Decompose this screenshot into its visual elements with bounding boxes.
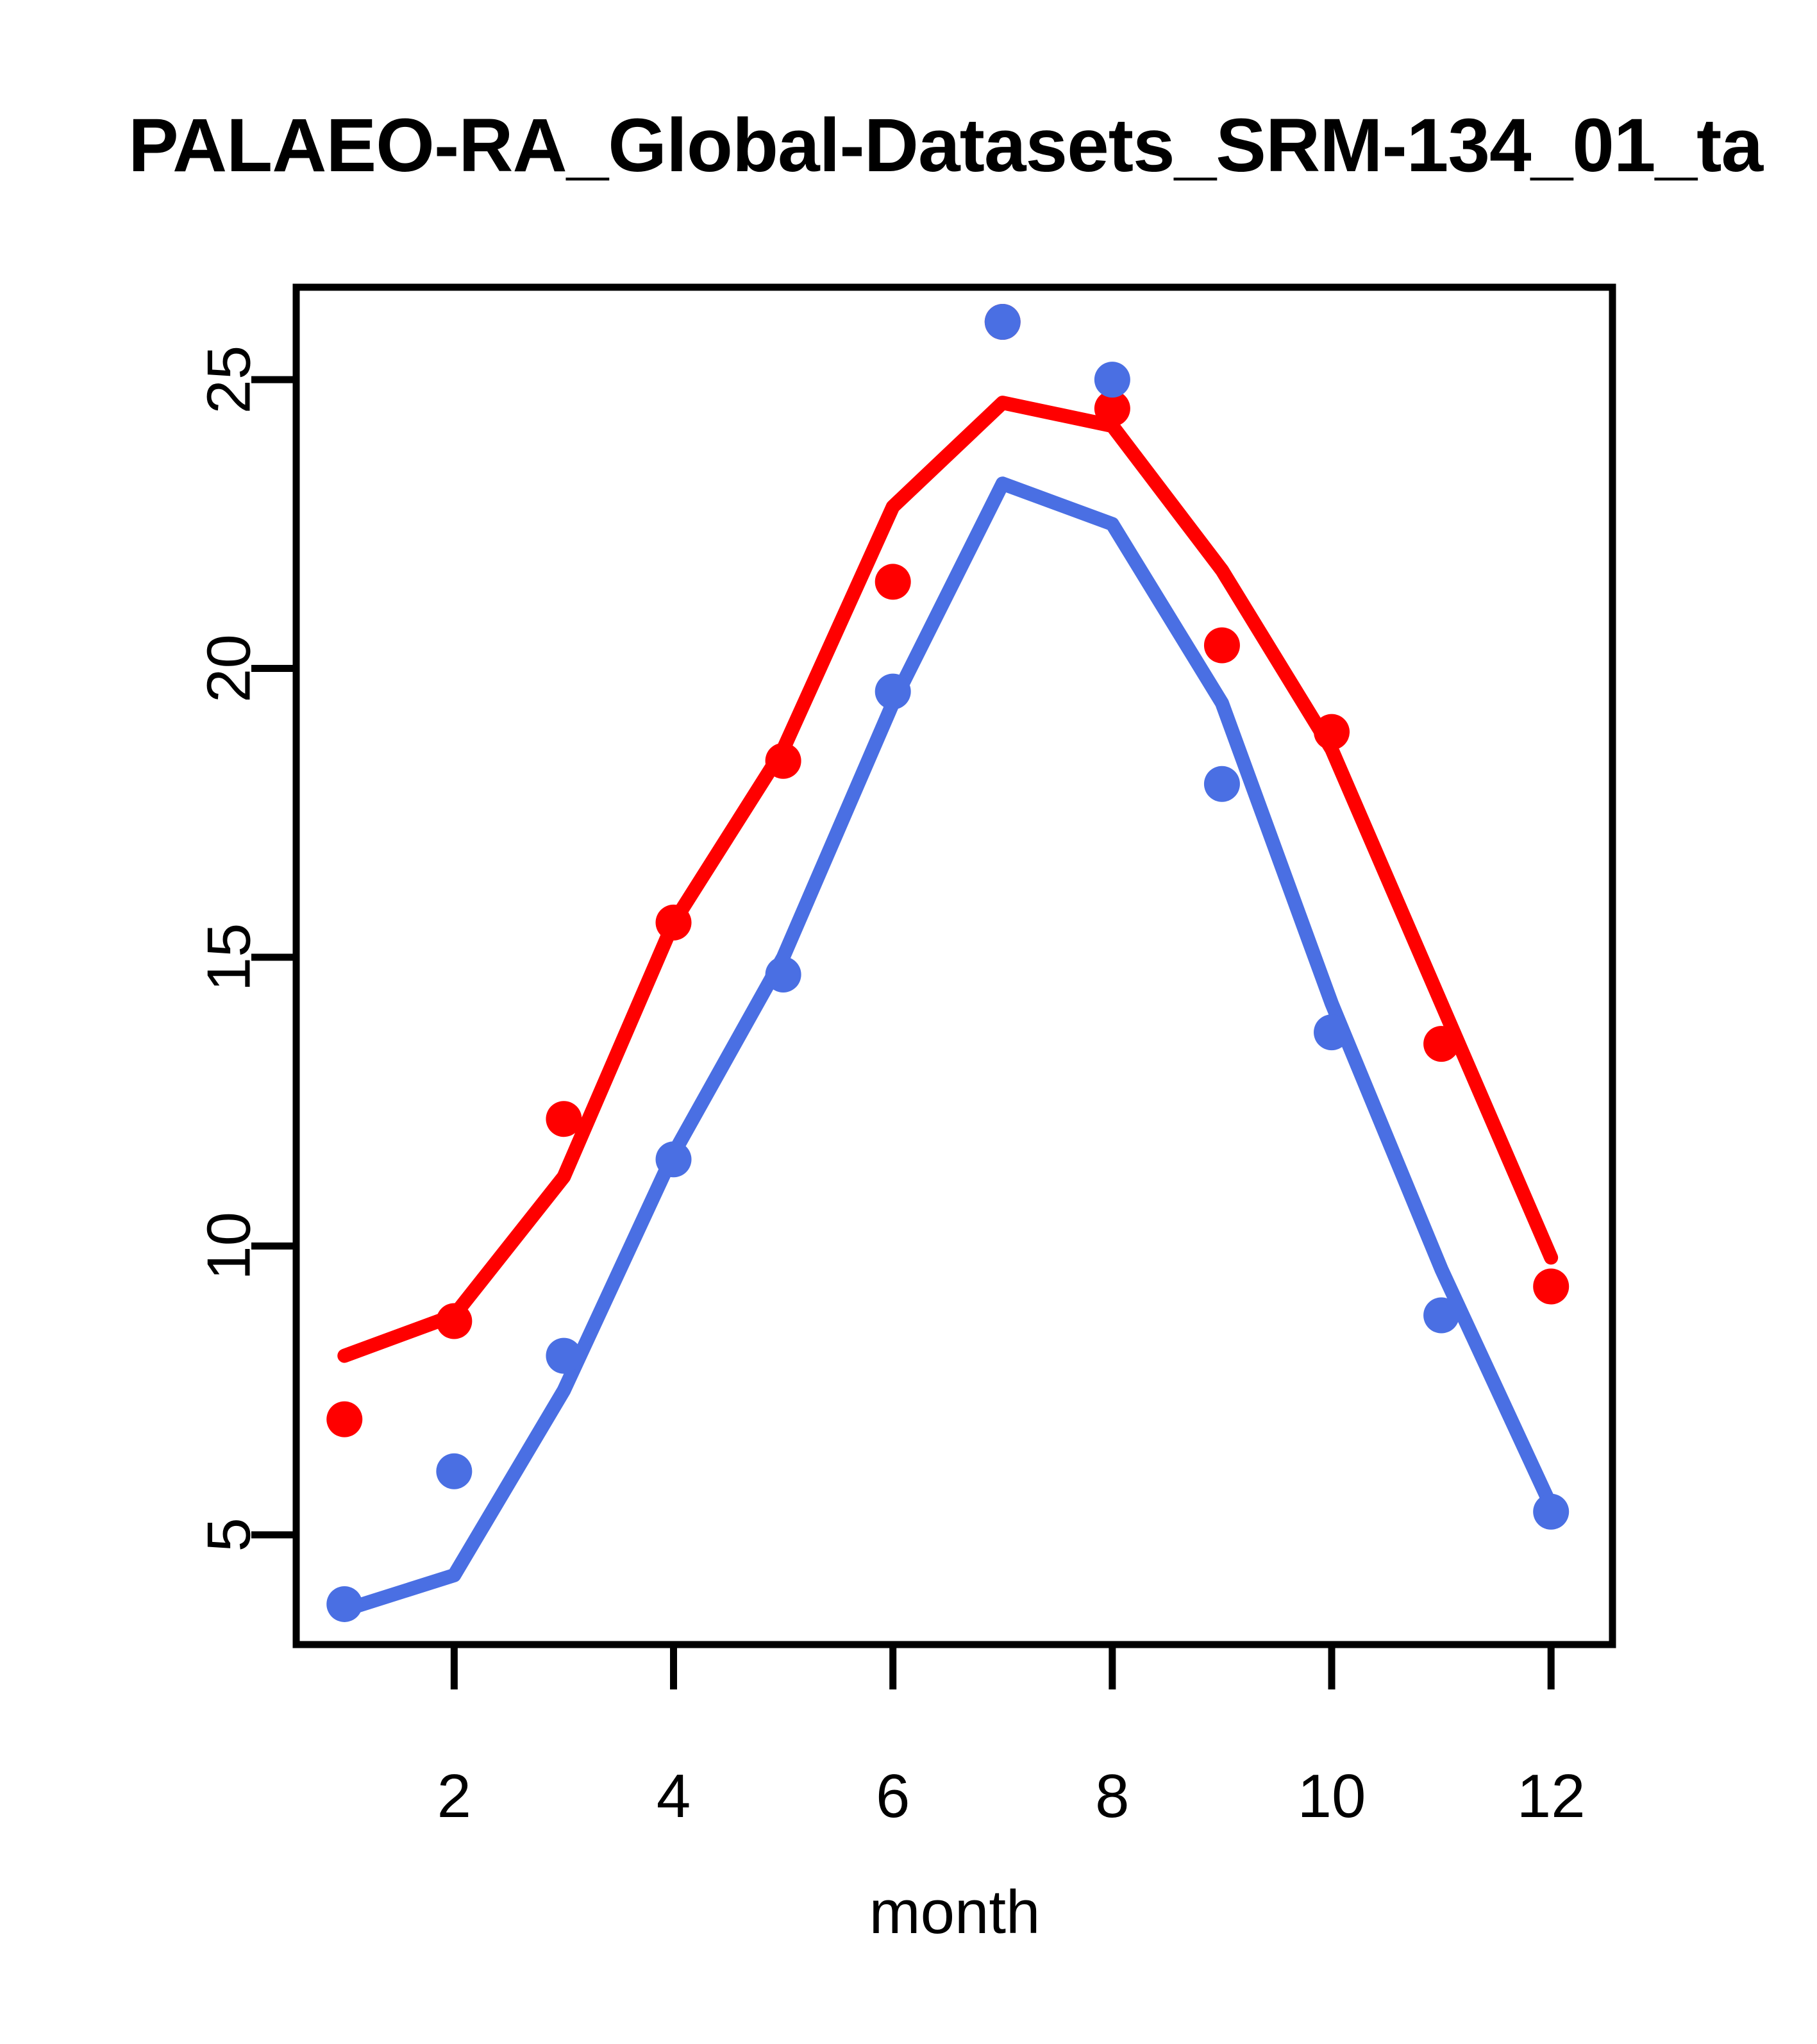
y-axis-tick-labels: 510152025 [195, 346, 264, 1552]
data-point [546, 1101, 582, 1137]
x-tick-label: 4 [657, 1762, 691, 1830]
data-point [1533, 1268, 1569, 1304]
data-point [1533, 1494, 1569, 1530]
x-tick-label: 6 [876, 1762, 910, 1830]
data-point [1204, 628, 1240, 664]
x-axis-title: month [869, 1878, 1041, 1947]
series-line-red-line [344, 403, 1551, 1355]
y-tick-label: 15 [195, 923, 264, 992]
series-points-group [326, 304, 1569, 1622]
data-point [1204, 766, 1240, 802]
data-point [875, 674, 911, 710]
data-point [326, 1586, 362, 1622]
data-point [546, 1338, 582, 1374]
data-point [766, 957, 801, 993]
data-point [1094, 362, 1130, 398]
y-tick-label: 5 [195, 1518, 264, 1552]
data-point [1314, 1014, 1350, 1050]
x-axis-tick-labels: 24681012 [437, 1762, 1586, 1830]
data-point [436, 1303, 472, 1339]
x-tick-label: 2 [437, 1762, 471, 1830]
x-tick-label: 10 [1298, 1762, 1366, 1830]
y-tick-label: 25 [195, 346, 264, 414]
data-point [1423, 1298, 1459, 1334]
data-point [436, 1453, 472, 1489]
y-tick-label: 10 [195, 1212, 264, 1280]
x-tick-label: 12 [1517, 1762, 1586, 1830]
data-point [875, 564, 911, 599]
data-point [985, 304, 1021, 340]
x-axis-ticks [454, 1645, 1551, 1689]
chart-canvas: 510152025 24681012 month [0, 0, 1817, 2044]
data-point [656, 905, 692, 941]
data-point [656, 1141, 692, 1177]
data-point [1423, 1026, 1459, 1062]
plot-frame [296, 287, 1612, 1645]
data-point [766, 743, 801, 779]
data-point [1314, 714, 1350, 750]
series-line-blue-line [344, 483, 1551, 1610]
y-tick-label: 20 [195, 634, 264, 703]
series-lines-group [344, 403, 1551, 1610]
x-tick-label: 8 [1095, 1762, 1129, 1830]
data-point [326, 1402, 362, 1437]
chart-page: PALAEO-RA_Global-Datasets_SRM-134_01_ta … [0, 0, 1817, 2044]
